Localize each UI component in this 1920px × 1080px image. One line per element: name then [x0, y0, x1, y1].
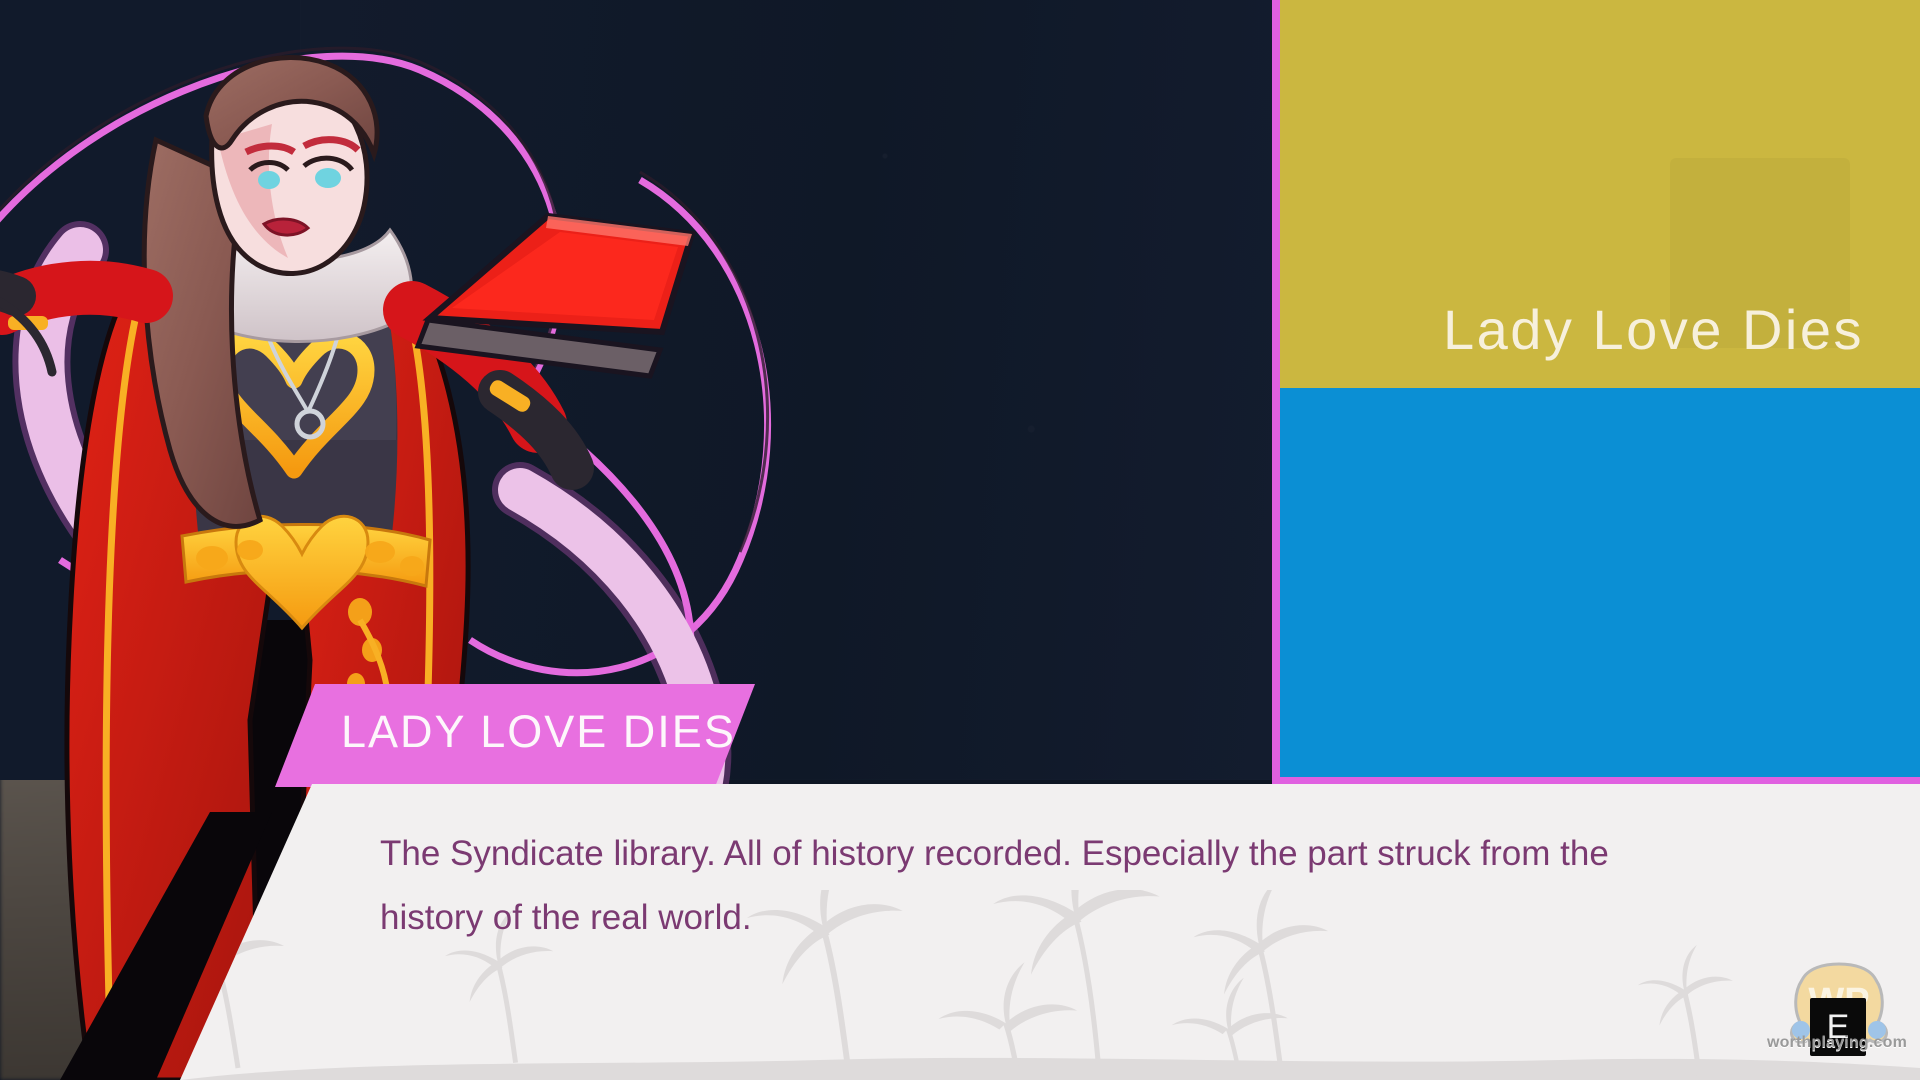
dialogue-line-1: The Syndicate library. All of history re…: [380, 834, 1550, 873]
dialogue-text: The Syndicate library. All of history re…: [380, 822, 1660, 950]
info-panel-yellow: Lady Love Dies: [1280, 0, 1920, 388]
watermark-site-label: worthplaying.com: [1762, 1034, 1912, 1052]
info-panel-bottom-border: [1272, 777, 1920, 784]
site-watermark: WP E worthplaying.com: [1762, 962, 1912, 1074]
info-panel-left-border: [1272, 0, 1280, 784]
info-panel-blue[interactable]: [1280, 388, 1920, 777]
speaker-name-label: LADY LOVE DIES: [341, 706, 736, 758]
character-name-title: Lady Love Dies: [1443, 297, 1864, 362]
game-screen: Lady Love Dies LADY LOVE DIES: [0, 0, 1920, 1080]
dialogue-box[interactable]: The Syndicate library. All of history re…: [180, 784, 1920, 1080]
speaker-name-banner: LADY LOVE DIES: [275, 684, 755, 787]
